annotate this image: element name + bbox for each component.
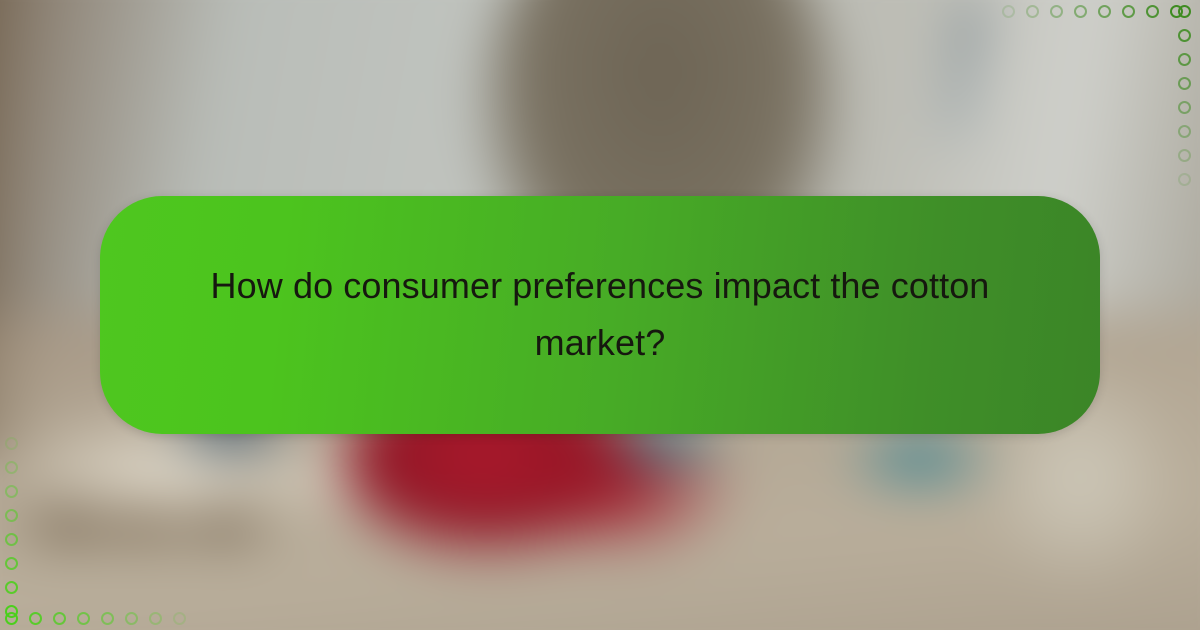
decorative-dot — [5, 533, 18, 546]
dot-column-top-right — [1178, 5, 1191, 186]
decorative-dot — [1178, 125, 1191, 138]
decorative-dot — [101, 612, 114, 625]
dot-row-bottom-left — [5, 612, 186, 625]
decorative-dot — [1122, 5, 1135, 18]
decorative-dot — [1178, 29, 1191, 42]
decorative-dot — [1178, 101, 1191, 114]
decorative-dot — [1002, 5, 1015, 18]
question-text: How do consumer preferences impact the c… — [210, 258, 990, 372]
decorative-dot — [5, 461, 18, 474]
decorative-dot — [5, 557, 18, 570]
background-left-column — [0, 0, 40, 460]
decorative-dot — [149, 612, 162, 625]
decorative-dot — [5, 581, 18, 594]
decorative-dot — [77, 612, 90, 625]
decorative-dot — [1026, 5, 1039, 18]
decorative-dot — [1178, 53, 1191, 66]
decorative-dot — [53, 612, 66, 625]
decorative-dot — [1098, 5, 1111, 18]
dot-row-top-right — [1002, 5, 1183, 18]
decorative-dot — [1178, 5, 1191, 18]
decorative-dot — [1178, 149, 1191, 162]
decorative-dot — [5, 485, 18, 498]
decorative-dot — [173, 612, 186, 625]
decorative-dot — [1178, 173, 1191, 186]
decorative-dot — [5, 509, 18, 522]
decorative-dot — [5, 612, 18, 625]
decorative-dot — [1074, 5, 1087, 18]
question-card: How do consumer preferences impact the c… — [100, 196, 1100, 434]
poster-canvas: How do consumer preferences impact the c… — [0, 0, 1200, 630]
dot-column-bottom-left — [5, 437, 18, 618]
decorative-dot — [1146, 5, 1159, 18]
decorative-dot — [1050, 5, 1063, 18]
decorative-dot — [125, 612, 138, 625]
background-dark-blob-c — [170, 508, 280, 544]
background-teal-blob-b — [840, 430, 1000, 490]
decorative-dot — [29, 612, 42, 625]
decorative-dot — [1178, 77, 1191, 90]
decorative-dot — [5, 437, 18, 450]
